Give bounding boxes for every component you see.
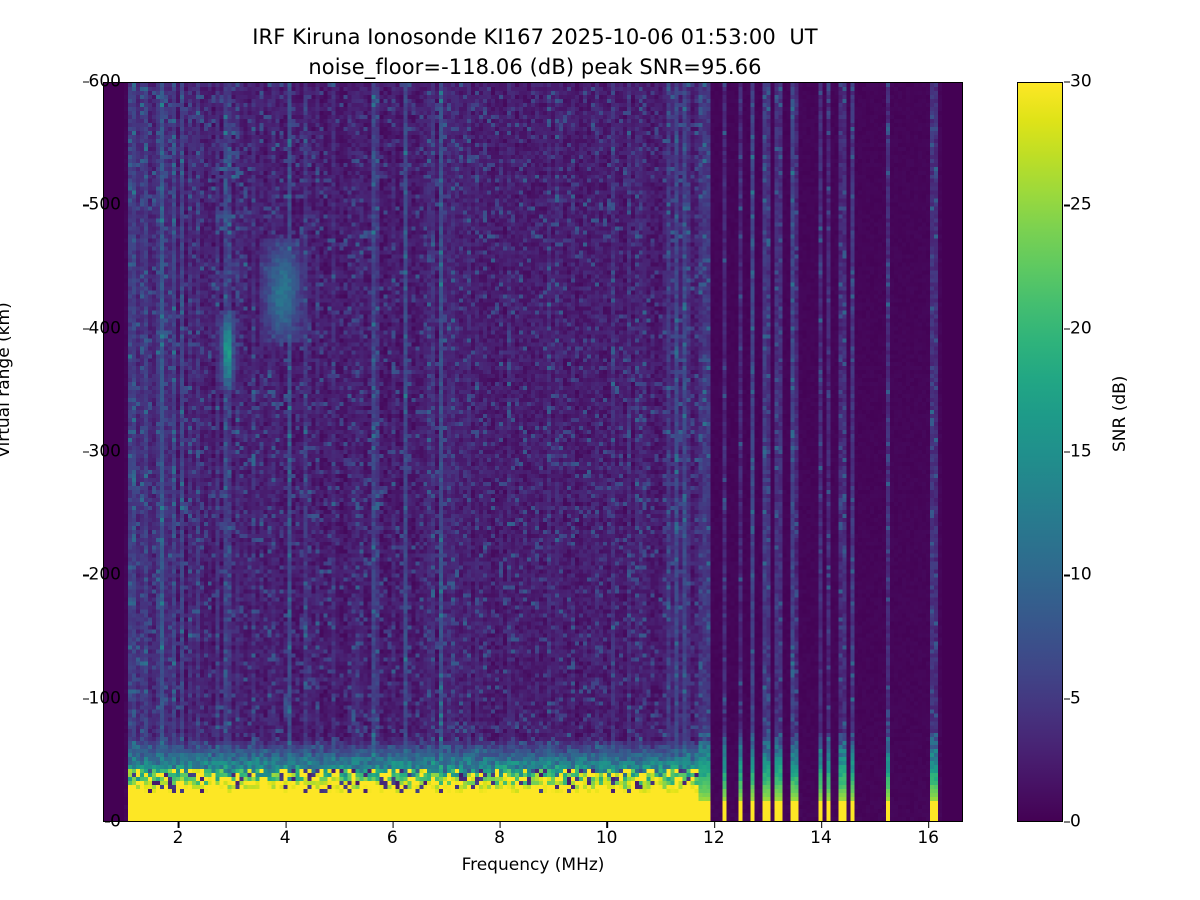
colorbar-tick-label: 5 xyxy=(1070,690,1081,707)
x-tick-label: 16 xyxy=(917,830,939,847)
snr-colorbar[interactable] xyxy=(1017,82,1063,822)
y-tick-label: 400 xyxy=(89,320,121,337)
title-line-1: IRF Kiruna Ionosonde KI167 2025-10-06 01… xyxy=(0,22,1070,52)
colorbar-tick-mark xyxy=(1064,822,1070,823)
y-tick-mark xyxy=(105,822,111,823)
x-tick-label: 4 xyxy=(280,830,291,847)
colorbar-tick-label: 15 xyxy=(1070,444,1092,461)
colorbar-tick-mark xyxy=(1064,452,1070,453)
x-tick-label: 8 xyxy=(494,830,505,847)
colorbar-tick-label: 30 xyxy=(1070,74,1092,91)
colorbar-tick-mark xyxy=(1064,698,1070,699)
y-tick-mark xyxy=(83,698,89,699)
y-tick-mark xyxy=(83,82,89,83)
x-tick-mark xyxy=(928,822,929,828)
y-tick-label: 600 xyxy=(89,74,121,91)
y-tick-mark xyxy=(83,328,89,329)
title-line-2: noise_floor=-118.06 (dB) peak SNR=95.66 xyxy=(0,52,1070,82)
y-tick-label: 500 xyxy=(89,197,121,214)
colorbar-label: SNR (dB) xyxy=(1110,376,1130,452)
colorbar-tick-mark xyxy=(1064,82,1070,83)
x-tick-label: 6 xyxy=(387,830,398,847)
x-tick-label: 10 xyxy=(596,830,618,847)
colorbar-gradient xyxy=(1018,83,1062,821)
colorbar-tick-label: 10 xyxy=(1070,567,1092,584)
colorbar-tick-label: 25 xyxy=(1070,197,1092,214)
y-axis-label: Virtual range (km) xyxy=(0,302,14,457)
ionogram-plot-area[interactable] xyxy=(103,82,963,822)
x-tick-mark xyxy=(178,822,179,828)
y-tick-label: 300 xyxy=(89,444,121,461)
x-tick-label: 12 xyxy=(703,830,725,847)
colorbar-tick-mark xyxy=(1064,575,1070,576)
ionogram-heatmap xyxy=(104,83,962,821)
y-tick-mark xyxy=(83,452,89,453)
y-tick-label: 100 xyxy=(89,690,121,707)
x-tick-mark xyxy=(285,822,286,828)
x-tick-mark xyxy=(392,822,393,828)
x-tick-label: 14 xyxy=(810,830,832,847)
x-axis-label: Frequency (MHz) xyxy=(103,855,963,875)
x-tick-mark xyxy=(714,822,715,828)
ionogram-figure: IRF Kiruna Ionosonde KI167 2025-10-06 01… xyxy=(0,0,1200,900)
x-tick-mark xyxy=(821,822,822,828)
colorbar-tick-label: 0 xyxy=(1070,814,1081,831)
x-tick-mark xyxy=(607,822,608,828)
y-tick-mark xyxy=(83,575,89,576)
colorbar-tick-mark xyxy=(1064,328,1070,329)
y-tick-label: 200 xyxy=(89,567,121,584)
colorbar-tick-label: 20 xyxy=(1070,320,1092,337)
y-tick-mark xyxy=(83,205,89,206)
x-tick-mark xyxy=(499,822,500,828)
page-title: IRF Kiruna Ionosonde KI167 2025-10-06 01… xyxy=(0,22,1070,82)
colorbar-tick-mark xyxy=(1064,205,1070,206)
x-tick-label: 2 xyxy=(173,830,184,847)
y-tick-label: 0 xyxy=(110,814,121,831)
